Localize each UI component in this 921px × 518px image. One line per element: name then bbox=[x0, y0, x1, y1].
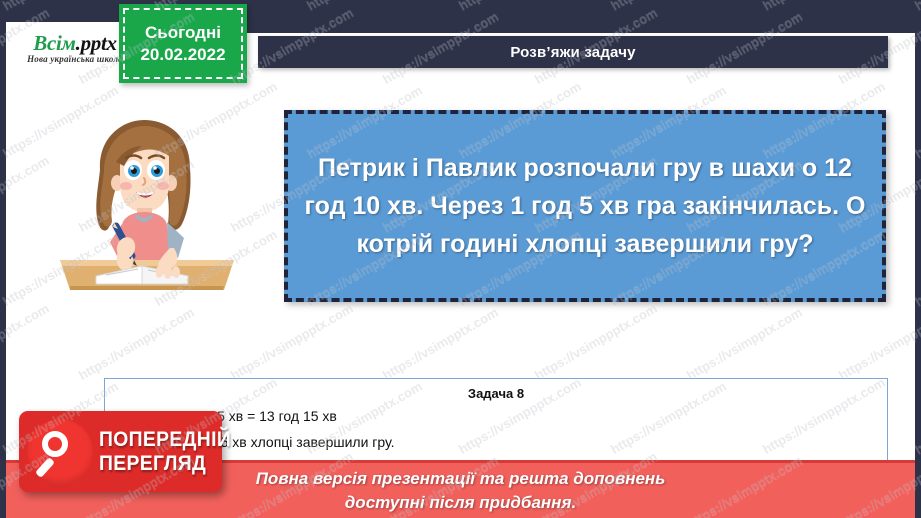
slide-title-text: Розв’яжи задачу bbox=[510, 44, 635, 61]
watermark-text: https://vsimppptx.com bbox=[836, 301, 921, 383]
answer-line-1: + 1 год 5 хв = 13 год 15 хв bbox=[169, 405, 887, 427]
magnifier-handle bbox=[35, 457, 55, 478]
watermark-text: https://vsimpptx.com bbox=[76, 305, 197, 383]
preview-badge: ПОПЕРЕДНІЙ ПЕРЕГЛЯД bbox=[19, 411, 222, 492]
preview-badge-line-1: ПОПЕРЕДНІЙ bbox=[99, 428, 231, 452]
purchase-notice-line-2: доступні після придбання. bbox=[345, 493, 576, 512]
watermark-text: https://vsimppptx.com bbox=[532, 301, 660, 383]
magnifier-ring bbox=[42, 431, 68, 457]
right-decor-rail bbox=[915, 0, 921, 518]
slide-title-bar: Розв’яжи задачу bbox=[258, 36, 888, 68]
girl-writing-svg bbox=[38, 108, 248, 308]
watermark-text: https://vsimppptx.com bbox=[0, 301, 52, 383]
logo-wordmark-suffix: .pptx bbox=[76, 31, 117, 55]
slide-canvas: Всім.pptx Нова українська школа Сьогодні… bbox=[0, 0, 921, 518]
task-statement-text: Петрик і Павлик розпочали гру в шахи о 1… bbox=[288, 149, 882, 263]
answer-line-2: 13 год 15 хв хлопці завершили гру. bbox=[169, 431, 887, 453]
preview-badge-text: ПОПЕРЕДНІЙ ПЕРЕГЛЯД bbox=[99, 428, 243, 476]
logo-subtitle: Нова українська школа bbox=[14, 54, 136, 65]
site-logo: Всім.pptx Нова українська школа bbox=[14, 32, 136, 76]
watermark-text: https://vsimppptx.com bbox=[228, 301, 356, 383]
preview-badge-line-2: ПЕРЕГЛЯД bbox=[99, 452, 231, 476]
task-statement-box: Петрик і Павлик розпочали гру в шахи о 1… bbox=[284, 110, 886, 302]
logo-wordmark-prefix: Всім bbox=[33, 31, 75, 55]
today-date-value: 20.02.2022 bbox=[140, 45, 225, 65]
watermark-text: https://vsimpptx.com bbox=[380, 305, 501, 383]
answer-panel-title: Задача 8 bbox=[105, 386, 887, 401]
logo-wordmark: Всім.pptx bbox=[14, 32, 136, 54]
left-decor-rail bbox=[0, 0, 6, 518]
purchase-notice-text: Повна версія презентації та решта доповн… bbox=[256, 467, 666, 515]
purchase-notice-line-1: Повна версія презентації та решта доповн… bbox=[256, 469, 666, 488]
today-date-badge-inner: Сьогодні 20.02.2022 bbox=[123, 8, 243, 79]
today-label: Сьогодні bbox=[145, 23, 221, 43]
girl-writing-illustration bbox=[38, 108, 248, 308]
watermark-text: https://vsimpptx.com bbox=[684, 305, 805, 383]
today-date-badge: Сьогодні 20.02.2022 bbox=[119, 4, 247, 83]
magnifier-icon bbox=[27, 419, 93, 485]
